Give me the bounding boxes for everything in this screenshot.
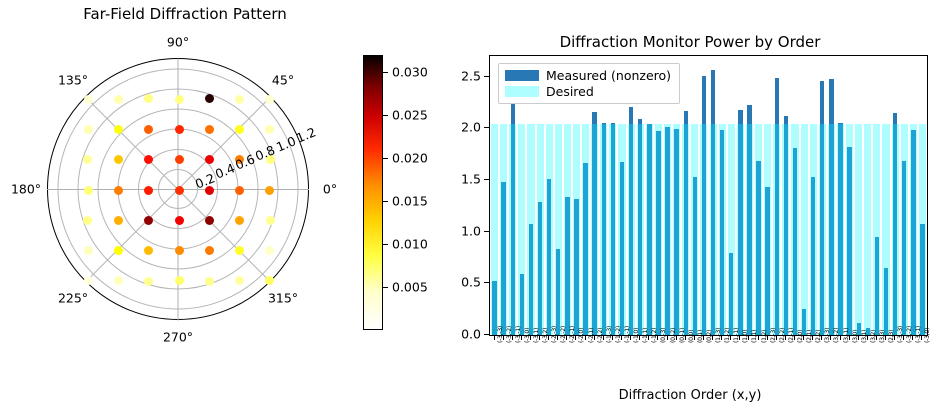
colorbar-tick-label: 0.020 <box>392 151 428 166</box>
x-tick-mark <box>530 336 531 340</box>
x-tick-mark <box>630 336 631 340</box>
polar-data-point <box>205 216 214 225</box>
bar-measured-base <box>711 124 715 335</box>
legend-label-desired: Desired <box>546 85 594 98</box>
bar-measured-base <box>684 124 688 335</box>
bar-measured-base <box>775 124 779 335</box>
x-tick-mark <box>494 336 495 340</box>
polar-data-point <box>266 216 275 225</box>
colorbar-tick-label: 0.030 <box>392 65 428 80</box>
bar-chart-panel: Diffraction Monitor Power by Order Measu… <box>450 0 937 411</box>
x-tick-label: (-3,-3) <box>497 326 504 343</box>
bar-chart-title: Diffraction Monitor Power by Order <box>560 33 821 51</box>
x-tick-mark <box>648 336 649 340</box>
bar-chart-axes: Measured (nonzero) Desired <box>489 55 928 336</box>
bar-measured-base <box>893 124 897 335</box>
polar-data-point <box>265 95 274 104</box>
bar-measured <box>656 131 660 335</box>
x-tick-mark <box>512 336 513 340</box>
y-tick-mark <box>484 179 489 180</box>
legend-entry-measured: Measured (nonzero) <box>505 69 671 82</box>
legend-entry-desired: Desired <box>505 85 671 98</box>
polar-spoke <box>47 189 178 190</box>
bar-desired <box>864 124 871 335</box>
bar-measured <box>756 161 760 335</box>
colorbar-gradient <box>363 55 383 330</box>
polar-plot-panel: Far-Field Diffraction Pattern 0° 45° 90°… <box>0 0 370 411</box>
x-tick-mark <box>903 336 904 340</box>
x-tick-mark <box>748 336 749 340</box>
bar-measured <box>674 129 678 335</box>
colorbar-tick-mark <box>383 158 388 159</box>
polar-data-point <box>265 276 274 285</box>
bar-measured <box>556 249 560 335</box>
bar-measured <box>501 182 505 335</box>
polar-data-point <box>84 186 93 195</box>
x-tick-mark <box>821 336 822 340</box>
polar-plot-title: Far-Field Diffraction Pattern <box>83 5 287 23</box>
polar-data-point <box>235 125 244 134</box>
x-tick-mark <box>794 336 795 340</box>
x-tick-mark <box>849 336 850 340</box>
bar-measured <box>538 202 542 335</box>
bar-measured-base <box>784 124 788 335</box>
bar-measured <box>529 224 533 335</box>
bar-measured <box>574 199 578 335</box>
bar-measured <box>583 163 587 335</box>
polar-angle-label-180: 180° <box>11 182 41 197</box>
polar-data-point <box>83 216 92 225</box>
bar-measured-base <box>602 124 606 335</box>
x-tick-mark <box>585 336 586 340</box>
figure-canvas: Far-Field Diffraction Pattern 0° 45° 90°… <box>0 0 937 411</box>
x-tick-label: (-2,-1) <box>569 326 576 343</box>
bar-measured <box>875 237 879 335</box>
bar-measured-base <box>738 124 742 335</box>
polar-data-point <box>84 125 93 134</box>
colorbar-tick-label: 0.025 <box>392 108 428 123</box>
polar-angle-label-315: 315° <box>268 291 298 306</box>
x-tick-mark <box>785 336 786 340</box>
y-tick-label: 1.0 <box>461 223 481 238</box>
x-tick-mark <box>921 336 922 340</box>
y-tick-label: 2.0 <box>461 120 481 135</box>
x-tick-mark <box>685 336 686 340</box>
x-tick-mark <box>667 336 668 340</box>
x-tick-mark <box>912 336 913 340</box>
x-tick-mark <box>548 336 549 340</box>
x-tick-mark <box>639 336 640 340</box>
polar-spoke <box>178 190 179 321</box>
polar-angle-label-225: 225° <box>58 291 88 306</box>
colorbar-tick-label: 0.015 <box>392 194 428 209</box>
bar-measured <box>902 161 906 335</box>
polar-data-point <box>235 216 244 225</box>
polar-data-point <box>144 277 153 286</box>
legend-swatch-desired <box>505 86 539 97</box>
polar-data-point <box>205 246 214 255</box>
x-tick-label: (-3,0) <box>924 328 931 343</box>
x-tick-mark <box>676 336 677 340</box>
bar-measured <box>920 224 924 335</box>
colorbar-tick-label: 0.005 <box>392 280 428 295</box>
y-tick-mark <box>484 76 489 77</box>
polar-axes <box>47 58 309 320</box>
x-tick-label: (-2,-2) <box>560 326 567 343</box>
polar-data-point <box>175 95 184 104</box>
bar-measured-base <box>747 124 751 335</box>
y-tick-mark <box>484 334 489 335</box>
colorbar-tick-mark <box>383 201 388 202</box>
x-tick-mark <box>575 336 576 340</box>
polar-data-point <box>114 186 123 195</box>
colorbar-tick-mark <box>383 115 388 116</box>
x-tick-mark <box>603 336 604 340</box>
x-tick-mark <box>758 336 759 340</box>
bar-measured <box>911 130 915 335</box>
bar-measured-base <box>629 124 633 335</box>
polar-data-point <box>84 246 93 255</box>
polar-angle-label-135: 135° <box>58 73 88 88</box>
y-tick-label: 0.5 <box>461 275 481 290</box>
x-tick-mark <box>703 336 704 340</box>
x-tick-mark <box>867 336 868 340</box>
bar-measured <box>793 148 797 335</box>
bar-measured-base <box>829 124 833 335</box>
bar-measured-base <box>592 124 596 335</box>
polar-data-point <box>144 216 153 225</box>
polar-data-point <box>205 125 214 134</box>
bar-measured-base <box>838 124 842 335</box>
bar-measured <box>565 197 569 335</box>
polar-data-point <box>205 277 214 286</box>
legend-label-measured: Measured (nonzero) <box>546 69 671 82</box>
polar-data-point <box>114 125 123 134</box>
x-tick-mark <box>539 336 540 340</box>
x-tick-mark <box>594 336 595 340</box>
x-tick-mark <box>776 336 777 340</box>
x-tick-mark <box>876 336 877 340</box>
polar-data-point <box>114 246 123 255</box>
colorbar: 0.0050.0100.0150.0200.0250.030 <box>363 55 463 340</box>
bar-measured <box>765 187 769 335</box>
polar-data-point <box>175 246 184 255</box>
x-tick-mark <box>657 336 658 340</box>
x-tick-mark <box>812 336 813 340</box>
colorbar-tick-label: 0.010 <box>392 237 428 252</box>
polar-data-point <box>84 95 93 104</box>
polar-angle-label-45: 45° <box>272 73 294 88</box>
bar-measured-base <box>820 124 824 335</box>
x-tick-mark <box>858 336 859 340</box>
x-tick-mark <box>830 336 831 340</box>
bar-measured <box>693 177 697 335</box>
polar-data-point <box>205 155 214 164</box>
polar-data-point <box>265 186 274 195</box>
polar-data-point <box>235 246 244 255</box>
polar-data-point <box>175 186 184 195</box>
bar-measured <box>620 162 624 335</box>
y-tick-label: 0.0 <box>461 327 481 342</box>
x-tick-mark <box>712 336 713 340</box>
bar-measured <box>811 177 815 335</box>
y-tick-mark <box>484 127 489 128</box>
bar-chart-legend: Measured (nonzero) Desired <box>498 63 680 104</box>
bar-measured <box>847 147 851 335</box>
x-tick-label: (-3,-2) <box>906 326 913 343</box>
y-tick-mark <box>484 282 489 283</box>
x-tick-label: (-1,-2) <box>615 326 622 343</box>
y-tick-mark <box>484 231 489 232</box>
bar-desired <box>855 124 862 335</box>
polar-angle-label-90: 90° <box>167 35 189 50</box>
bar-measured-base <box>702 124 706 335</box>
polar-data-point <box>235 186 244 195</box>
bar-measured <box>547 179 551 335</box>
bar-measured-base <box>638 124 642 335</box>
x-tick-mark <box>621 336 622 340</box>
polar-angle-label-0: 0° <box>323 182 337 197</box>
x-tick-mark <box>894 336 895 340</box>
x-tick-label: (-3,-3) <box>897 326 904 343</box>
x-tick-mark <box>503 336 504 340</box>
polar-data-point <box>235 95 244 104</box>
x-tick-mark <box>730 336 731 340</box>
bar-measured <box>647 124 651 335</box>
polar-radial-label-5: 1.2 <box>294 124 318 145</box>
polar-angle-label-270: 270° <box>163 330 193 345</box>
x-tick-label: (-2,-3) <box>551 326 558 343</box>
bar-measured <box>720 130 724 335</box>
x-tick-mark <box>885 336 886 340</box>
x-tick-mark <box>566 336 567 340</box>
x-tick-label: (-1,-1) <box>624 326 631 343</box>
x-tick-label: (-3,-1) <box>515 326 522 343</box>
x-tick-label: (-3,-1) <box>915 326 922 343</box>
y-tick-label: 1.5 <box>461 172 481 187</box>
legend-swatch-measured <box>505 70 539 81</box>
polar-data-point <box>114 216 123 225</box>
bar-measured-base <box>511 124 515 335</box>
x-tick-label: (-3,-2) <box>506 326 513 343</box>
bar-measured-base <box>611 124 615 335</box>
colorbar-tick-mark <box>383 72 388 73</box>
y-tick-label: 2.5 <box>461 68 481 83</box>
x-tick-mark <box>521 336 522 340</box>
polar-data-point <box>144 186 153 195</box>
polar-data-point <box>175 216 184 225</box>
x-tick-mark <box>840 336 841 340</box>
x-tick-mark <box>694 336 695 340</box>
polar-data-point <box>114 95 123 104</box>
x-tick-mark <box>721 336 722 340</box>
bar-measured <box>729 253 733 335</box>
x-tick-mark <box>767 336 768 340</box>
x-tick-label: (-1,-3) <box>606 326 613 343</box>
polar-data-point <box>84 276 93 285</box>
x-tick-mark <box>557 336 558 340</box>
x-tick-mark <box>803 336 804 340</box>
x-tick-mark <box>739 336 740 340</box>
polar-data-point <box>175 125 184 134</box>
colorbar-tick-mark <box>383 244 388 245</box>
polar-data-point <box>175 155 184 164</box>
bar-chart-x-axis-label: Diffraction Order (x,y) <box>619 388 762 403</box>
colorbar-tick-mark <box>383 287 388 288</box>
bar-desired <box>801 124 808 335</box>
polar-data-point <box>205 94 214 103</box>
polar-spoke <box>178 59 179 190</box>
bar-measured <box>884 268 888 335</box>
bar-measured <box>665 127 669 335</box>
polar-data-point <box>175 276 184 285</box>
x-tick-mark <box>612 336 613 340</box>
